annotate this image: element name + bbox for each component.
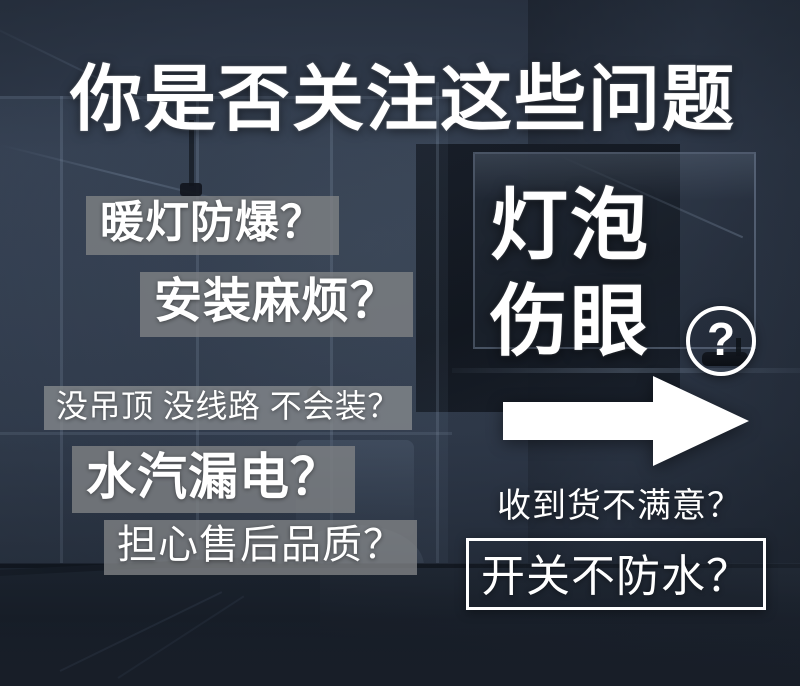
outlined-callout-text: 开关不防水？	[481, 540, 751, 608]
question-mark-glyph: ?	[707, 316, 735, 362]
banner-headline: 你是否关注这些问题	[70, 64, 760, 136]
pain-point-chip-1: 暖灯防爆？	[86, 196, 339, 255]
promo-banner: 你是否关注这些问题 暖灯防爆？ 安装麻烦？ 没吊顶 没线路 不会装？ 水汽漏电？…	[0, 0, 800, 686]
right-arrow-icon	[503, 376, 749, 466]
right-sub-line: 收到货不满意？	[497, 478, 742, 527]
pain-point-chip-5: 担心售后品质？	[104, 520, 417, 575]
pain-point-chip-2: 安装麻烦？	[140, 272, 413, 337]
right-big-line-1: 灯泡	[490, 186, 650, 264]
banner-content: 你是否关注这些问题 暖灯防爆？ 安装麻烦？ 没吊顶 没线路 不会装？ 水汽漏电？…	[0, 0, 800, 686]
question-mark-badge: ?	[686, 306, 756, 376]
right-big-line-2: 伤眼	[490, 282, 650, 360]
outlined-callout-box: 开关不防水？	[466, 538, 766, 610]
pain-point-chip-3: 没吊顶 没线路 不会装？	[44, 386, 412, 430]
pain-point-chip-4: 水汽漏电？	[72, 446, 355, 513]
